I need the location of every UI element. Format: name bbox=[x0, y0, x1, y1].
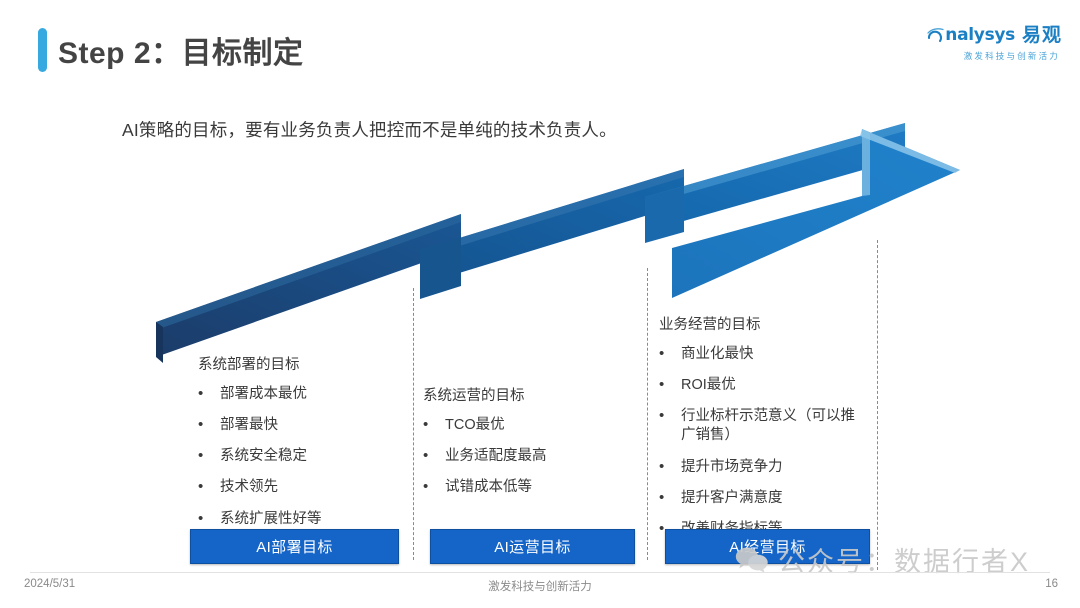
title-accent-bar bbox=[38, 28, 47, 72]
arrow-head bbox=[650, 129, 960, 305]
bullet-item: • 系统扩展性好等 bbox=[198, 510, 403, 529]
bullet-text: 系统安全稳定 bbox=[220, 447, 403, 466]
bullet-item: • ROI最优 bbox=[659, 376, 869, 395]
bullet-item: • 商业化最快 bbox=[659, 345, 869, 364]
bullet-dot: • bbox=[198, 385, 220, 404]
bullet-text: 试错成本低等 bbox=[445, 478, 623, 497]
bullet-text: 提升市场竞争力 bbox=[681, 458, 869, 477]
arrow-segment-3 bbox=[645, 123, 905, 243]
goal-column-1: 系统部署的目标 • 部署成本最优 • 部署最快 • 系统安全稳定 • 技术领先 … bbox=[198, 353, 403, 541]
bullet-text: ROI最优 bbox=[681, 376, 869, 395]
logo-en-text: nalysys bbox=[945, 27, 1015, 44]
bullet-text: 业务适配度最高 bbox=[445, 447, 623, 466]
wechat-icon bbox=[735, 546, 769, 574]
bullet-text: 行业标杆示范意义（可以推广销售） bbox=[681, 407, 869, 445]
goal-label-text: AI运营目标 bbox=[494, 536, 571, 557]
bullet-dot: • bbox=[659, 407, 681, 445]
bullet-item: • 行业标杆示范意义（可以推广销售） bbox=[659, 407, 869, 445]
bullet-text: 提升客户满意度 bbox=[681, 489, 869, 508]
bullet-dot: • bbox=[423, 447, 445, 466]
bullet-dot: • bbox=[423, 478, 445, 497]
footer-page-number: 16 bbox=[1045, 578, 1058, 590]
goal-label-box-1[interactable]: AI部署目标 bbox=[190, 529, 399, 564]
bullet-text: 系统扩展性好等 bbox=[220, 510, 403, 529]
logo-main: nalysys 易观 bbox=[927, 26, 1062, 45]
bullet-dot: • bbox=[659, 489, 681, 508]
column-heading: 系统运营的目标 bbox=[423, 384, 623, 405]
logo-tagline: 激发科技与创新活力 bbox=[927, 50, 1060, 62]
bullet-text: 技术领先 bbox=[220, 478, 403, 497]
page-title: Step 2：目标制定 bbox=[38, 28, 304, 72]
bullet-dot: • bbox=[423, 416, 445, 435]
goal-label-box-2[interactable]: AI运营目标 bbox=[430, 529, 635, 564]
bullet-dot: • bbox=[659, 345, 681, 364]
logo-cn-text: 易观 bbox=[1022, 26, 1062, 45]
bullet-item: • 提升客户满意度 bbox=[659, 489, 869, 508]
divider-2 bbox=[647, 268, 648, 560]
subtitle-text: AI策略的目标，要有业务负责人把控而不是单纯的技术负责人。 bbox=[122, 117, 617, 142]
bullet-text: 商业化最快 bbox=[681, 345, 869, 364]
arrow-segment-2 bbox=[420, 169, 684, 299]
footer-tagline: 激发科技与创新活力 bbox=[0, 578, 1080, 594]
watermark: 公众号：数据行者X bbox=[735, 540, 1030, 579]
title-text: Step 2：目标制定 bbox=[58, 28, 304, 72]
arrow-riser-1 bbox=[420, 214, 461, 300]
bullet-dot: • bbox=[659, 376, 681, 395]
bullet-dot: • bbox=[198, 510, 220, 529]
goal-column-2: 系统运营的目标 • TCO最优 • 业务适配度最高 • 试错成本低等 bbox=[423, 384, 623, 509]
watermark-text: 公众号：数据行者X bbox=[778, 540, 1030, 579]
bullet-text: 部署最快 bbox=[220, 416, 403, 435]
bullet-item: • TCO最优 bbox=[423, 416, 623, 435]
bullet-item: • 系统安全稳定 bbox=[198, 447, 403, 466]
column-heading: 系统部署的目标 bbox=[198, 353, 403, 374]
bullet-dot: • bbox=[198, 447, 220, 466]
column-heading: 业务经营的目标 bbox=[659, 313, 869, 334]
bullet-dot: • bbox=[659, 458, 681, 477]
bullet-item: • 部署成本最优 bbox=[198, 385, 403, 404]
goal-column-3: 业务经营的目标 • 商业化最快 • ROI最优 • 行业标杆示范意义（可以推广销… bbox=[659, 313, 869, 551]
divider-1 bbox=[413, 288, 414, 560]
bullet-item: • 部署最快 bbox=[198, 416, 403, 435]
bullet-item: • 技术领先 bbox=[198, 478, 403, 497]
footer-divider bbox=[30, 572, 1050, 573]
arrow-segment-1 bbox=[156, 214, 461, 363]
bullet-dot: • bbox=[198, 416, 220, 435]
bullet-item: • 试错成本低等 bbox=[423, 478, 623, 497]
bullet-dot: • bbox=[198, 478, 220, 497]
bullet-text: TCO最优 bbox=[445, 416, 623, 435]
goal-label-text: AI部署目标 bbox=[256, 536, 333, 557]
slide-canvas: Step 2：目标制定 nalysys 易观 激发科技与创新活力 AI策略的目标… bbox=[0, 0, 1080, 608]
divider-3 bbox=[877, 240, 878, 570]
bullet-text: 部署成本最优 bbox=[220, 385, 403, 404]
bullet-item: • 业务适配度最高 bbox=[423, 447, 623, 466]
brand-logo: nalysys 易观 激发科技与创新活力 bbox=[927, 26, 1062, 62]
stepped-arrow-graphic bbox=[0, 0, 1080, 608]
bullet-item: • 提升市场竞争力 bbox=[659, 458, 869, 477]
analysys-a-icon bbox=[927, 27, 944, 44]
